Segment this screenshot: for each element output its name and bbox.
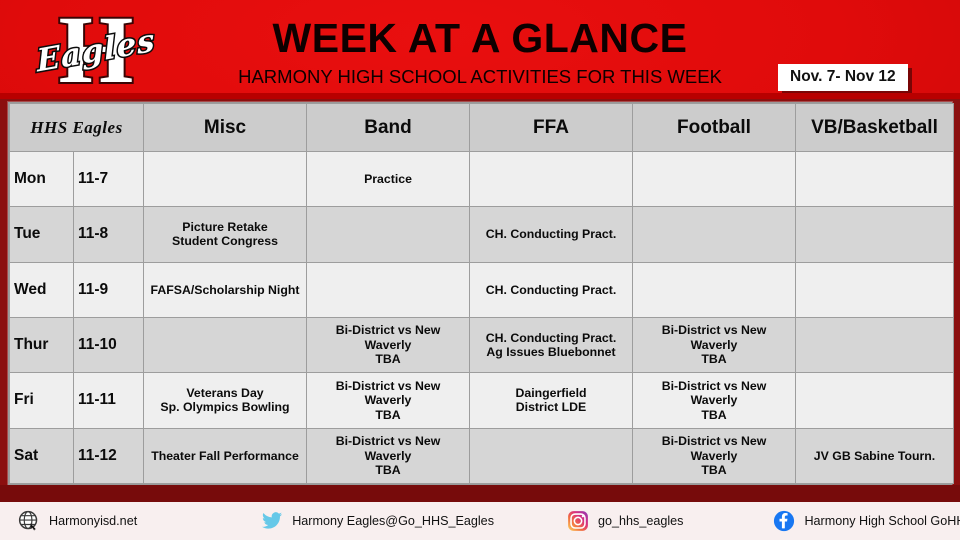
cell-misc: Veterans DaySp. Olympics Bowling (144, 373, 307, 428)
table-row: Mon11-7Practice (10, 152, 954, 207)
table-row: Tue11-8Picture RetakeStudent CongressCH.… (10, 207, 954, 262)
activity-line: Bi-District vs New Waverly (311, 379, 465, 408)
cell-band: Bi-District vs New WaverlyTBA (307, 317, 470, 372)
activity-line: Practice (311, 172, 465, 187)
facebook-icon (773, 510, 795, 532)
title-block: WEEK AT A GLANCE HARMONY HIGH SCHOOL ACT… (190, 14, 770, 90)
page-header: H Eagles WEEK AT A GLANCE HARMONY HIGH S… (0, 0, 960, 99)
column-header-hhs-eagles: HHS Eagles (10, 104, 144, 152)
column-header-ffa: FFA (470, 104, 633, 152)
cell-date: 11-11 (74, 373, 144, 428)
table-row: Wed11-9FAFSA/Scholarship NightCH. Conduc… (10, 262, 954, 317)
activity-line: CH. Conducting Pract. (474, 331, 628, 346)
activity-line: TBA (311, 408, 465, 423)
activity-line: TBA (637, 352, 791, 367)
table-row: Fri11-11Veterans DaySp. Olympics Bowling… (10, 373, 954, 428)
cell-misc (144, 317, 307, 372)
activity-line: District LDE (474, 400, 628, 415)
page-subtitle: HARMONY HIGH SCHOOL ACTIVITIES FOR THIS … (190, 64, 770, 90)
cell-misc: FAFSA/Scholarship Night (144, 262, 307, 317)
globe-icon (18, 510, 40, 532)
activity-line: Bi-District vs New Waverly (637, 434, 791, 463)
activity-line: Theater Fall Performance (148, 449, 302, 464)
footer-item-twitter[interactable]: Harmony Eagles@Go_HHS_Eagles (261, 502, 494, 540)
cell-day: Mon (10, 152, 74, 207)
hhs-eagles-logo: H Eagles (30, 4, 160, 96)
activity-line: Bi-District vs New Waverly (311, 434, 465, 463)
column-header-football: Football (633, 104, 796, 152)
activity-line: Ag Issues Bluebonnet (474, 345, 628, 360)
cell-date: 11-10 (74, 317, 144, 372)
column-header-misc: Misc (144, 104, 307, 152)
cell-football (633, 152, 796, 207)
cell-day: Thur (10, 317, 74, 372)
week-at-a-glance-page: H Eagles WEEK AT A GLANCE HARMONY HIGH S… (0, 0, 960, 540)
cell-date: 11-7 (74, 152, 144, 207)
cell-day: Sat (10, 428, 74, 483)
footer-item-facebook[interactable]: Harmony High School GoHHSEagles (773, 502, 960, 540)
cell-vb-basketball (796, 262, 954, 317)
cell-ffa: CH. Conducting Pract. (470, 207, 633, 262)
activity-line: Student Congress (148, 234, 302, 249)
date-range-badge: Nov. 7- Nov 12 (778, 64, 908, 91)
cell-band: Practice (307, 152, 470, 207)
cell-football (633, 262, 796, 317)
twitter-icon (261, 510, 283, 532)
activity-line: Sp. Olympics Bowling (148, 400, 302, 415)
activity-line: TBA (637, 463, 791, 478)
activity-line: Picture Retake (148, 220, 302, 235)
footer-item-website[interactable]: Harmonyisd.net (18, 502, 137, 540)
column-header-band: Band (307, 104, 470, 152)
activity-line: JV GB Sabine Tourn. (800, 449, 949, 464)
activity-line: Bi-District vs New Waverly (637, 379, 791, 408)
footer-label-facebook: Harmony High School GoHHSEagles (804, 514, 960, 528)
schedule-table-container: HHS Eagles Misc Band FFA Football VB/Bas… (8, 102, 952, 485)
cell-day: Tue (10, 207, 74, 262)
table-row: Sat11-12Theater Fall PerformanceBi-Distr… (10, 428, 954, 483)
column-header-vb-basketball: VB/Basketball (796, 104, 954, 152)
cell-misc: Theater Fall Performance (144, 428, 307, 483)
cell-misc (144, 152, 307, 207)
cell-ffa: CH. Conducting Pract. (470, 262, 633, 317)
cell-football: Bi-District vs New WaverlyTBA (633, 317, 796, 372)
cell-ffa: CH. Conducting Pract.Ag Issues Bluebonne… (470, 317, 633, 372)
activity-line: FAFSA/Scholarship Night (148, 283, 302, 298)
cell-misc: Picture RetakeStudent Congress (144, 207, 307, 262)
cell-band (307, 207, 470, 262)
cell-band: Bi-District vs New WaverlyTBA (307, 428, 470, 483)
cell-ffa: DaingerfieldDistrict LDE (470, 373, 633, 428)
cell-vb-basketball: JV GB Sabine Tourn. (796, 428, 954, 483)
social-footer: Harmonyisd.net Harmony Eagles@Go_HHS_Eag… (0, 502, 960, 540)
activity-line: Bi-District vs New Waverly (637, 323, 791, 352)
footer-divider-bar (0, 485, 960, 502)
schedule-table: HHS Eagles Misc Band FFA Football VB/Bas… (9, 103, 954, 484)
activity-line: Daingerfield (474, 386, 628, 401)
activity-line: CH. Conducting Pract. (474, 283, 628, 298)
cell-date: 11-9 (74, 262, 144, 317)
activity-line: TBA (311, 463, 465, 478)
activity-line: TBA (311, 352, 465, 367)
cell-vb-basketball (796, 373, 954, 428)
activity-line: CH. Conducting Pract. (474, 227, 628, 242)
table-header-row: HHS Eagles Misc Band FFA Football VB/Bas… (10, 104, 954, 152)
footer-label-twitter: Harmony Eagles@Go_HHS_Eagles (292, 514, 494, 528)
footer-label-website: Harmonyisd.net (49, 514, 137, 528)
cell-vb-basketball (796, 152, 954, 207)
schedule-table-body: Mon11-7PracticeTue11-8Picture RetakeStud… (10, 152, 954, 484)
cell-ffa (470, 152, 633, 207)
table-row: Thur11-10Bi-District vs New WaverlyTBACH… (10, 317, 954, 372)
activity-line: TBA (637, 408, 791, 423)
cell-ffa (470, 428, 633, 483)
cell-vb-basketball (796, 207, 954, 262)
cell-band: Bi-District vs New WaverlyTBA (307, 373, 470, 428)
cell-football (633, 207, 796, 262)
footer-label-instagram: go_hhs_eagles (598, 514, 683, 528)
activity-line: Veterans Day (148, 386, 302, 401)
cell-football: Bi-District vs New WaverlyTBA (633, 373, 796, 428)
cell-day: Fri (10, 373, 74, 428)
footer-item-instagram[interactable]: go_hhs_eagles (567, 502, 683, 540)
cell-band (307, 262, 470, 317)
cell-vb-basketball (796, 317, 954, 372)
cell-day: Wed (10, 262, 74, 317)
page-title: WEEK AT A GLANCE (190, 14, 770, 62)
cell-date: 11-8 (74, 207, 144, 262)
cell-football: Bi-District vs New WaverlyTBA (633, 428, 796, 483)
instagram-icon (567, 510, 589, 532)
activity-line: Bi-District vs New Waverly (311, 323, 465, 352)
cell-date: 11-12 (74, 428, 144, 483)
